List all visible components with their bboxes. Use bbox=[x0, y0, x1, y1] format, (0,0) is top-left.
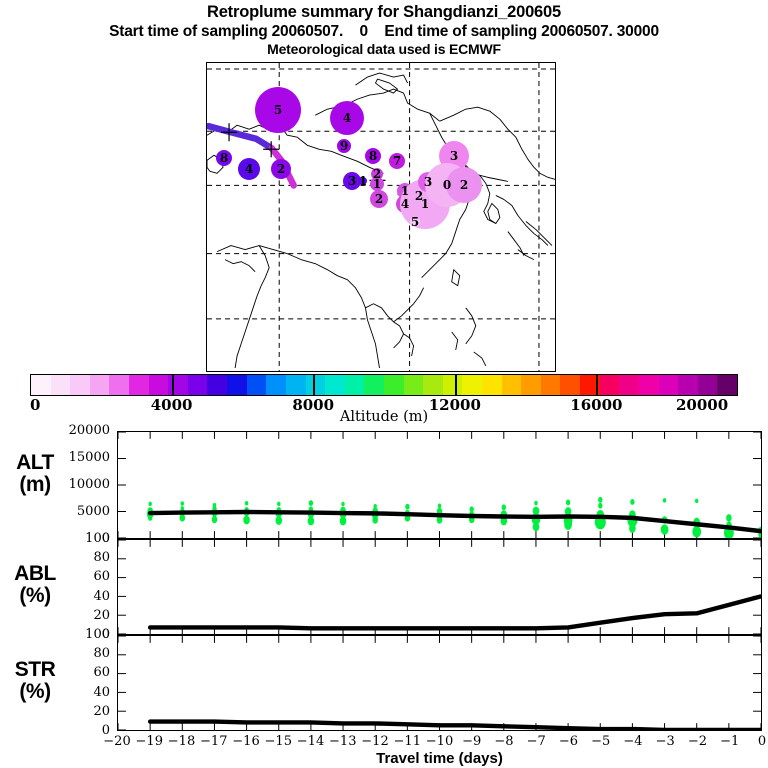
colorbar-separator bbox=[172, 375, 174, 395]
y-tick-label: 40 bbox=[93, 590, 110, 603]
colorbar-segment bbox=[678, 375, 698, 395]
y-tick-label: 80 bbox=[93, 647, 110, 660]
plume-dot bbox=[337, 139, 351, 153]
colorbar-segment bbox=[286, 375, 306, 395]
y-tick-label: 20000 bbox=[69, 424, 110, 437]
colorbar-segment bbox=[560, 375, 580, 395]
y-tick-label: 20 bbox=[93, 609, 110, 622]
plume-dot bbox=[389, 153, 405, 169]
alt-panel[interactable] bbox=[117, 431, 762, 539]
colorbar-segment bbox=[70, 375, 90, 395]
colorbar-segment bbox=[639, 375, 659, 395]
x-tick-label: 0 bbox=[758, 734, 766, 749]
colorbar-segment bbox=[404, 375, 424, 395]
plume-dot bbox=[410, 217, 420, 227]
plume-dot bbox=[446, 167, 482, 203]
y-tick-label: 15000 bbox=[69, 451, 110, 464]
alt-label-line2: (m) bbox=[19, 473, 50, 496]
x-tick-label: −16 bbox=[232, 734, 259, 749]
abl-plot bbox=[118, 540, 761, 634]
plume-dot bbox=[216, 150, 232, 166]
x-tick-label: −15 bbox=[265, 734, 292, 749]
str-panel[interactable] bbox=[117, 635, 762, 731]
plume-dot bbox=[238, 158, 260, 180]
colorbar-segment bbox=[443, 375, 463, 395]
colorbar-separator bbox=[596, 375, 598, 395]
title-block: Retroplume summary for Shangdianzi_20060… bbox=[0, 0, 768, 58]
plume-dot bbox=[271, 159, 291, 179]
colorbar-segment bbox=[90, 375, 110, 395]
alt-axis-label: ALT (m) bbox=[4, 452, 66, 496]
y-tick-label: 60 bbox=[93, 570, 110, 583]
y-tick-label: 5000 bbox=[77, 505, 110, 518]
x-tick-label: −7 bbox=[527, 734, 546, 749]
x-tick-label: −8 bbox=[494, 734, 513, 749]
x-tick-label: −2 bbox=[688, 734, 707, 749]
colorbar-segment bbox=[266, 375, 286, 395]
x-tick-label: −18 bbox=[168, 734, 195, 749]
colorbar-segment bbox=[345, 375, 365, 395]
x-tick-label: −11 bbox=[394, 734, 421, 749]
x-tick-label: −1 bbox=[720, 734, 739, 749]
colorbar-separator bbox=[313, 375, 315, 395]
colorbar-title: Altitude (m) bbox=[0, 409, 768, 425]
altitude-colorbar[interactable] bbox=[30, 374, 738, 396]
abl-label-line1: ABL bbox=[14, 562, 56, 585]
colorbar-segment bbox=[384, 375, 404, 395]
colorbar-segment bbox=[306, 375, 326, 395]
alt-plot bbox=[118, 432, 761, 538]
colorbar-segment bbox=[482, 375, 502, 395]
alt-label-line1: ALT bbox=[16, 451, 54, 474]
colorbar-segment bbox=[207, 375, 227, 395]
colorbar-segment bbox=[247, 375, 267, 395]
xaxis-title: Travel time (days) bbox=[117, 750, 762, 767]
plume-dot bbox=[370, 177, 384, 191]
plume-dot bbox=[255, 87, 301, 133]
y-tick-label: 60 bbox=[93, 666, 110, 679]
colorbar-separator bbox=[455, 375, 457, 395]
retroplume-map[interactable]: 8544298733121214213025 bbox=[206, 62, 556, 372]
colorbar-segment bbox=[619, 375, 639, 395]
x-tick-label: −5 bbox=[591, 734, 610, 749]
x-tick-label: −4 bbox=[623, 734, 642, 749]
x-tick-label: −10 bbox=[426, 734, 453, 749]
str-axis-label: STR (%) bbox=[4, 659, 66, 703]
y-tick-label: 80 bbox=[93, 551, 110, 564]
str-label-line2: (%) bbox=[19, 680, 50, 703]
sampling-time-line: Start time of sampling 20060507. 0 End t… bbox=[0, 22, 768, 41]
colorbar-segment bbox=[51, 375, 71, 395]
x-tick-label: −20 bbox=[103, 734, 130, 749]
abl-panel[interactable] bbox=[117, 539, 762, 635]
plume-dot bbox=[365, 148, 381, 164]
y-tick-label: 100 bbox=[85, 628, 110, 641]
colorbar-segment bbox=[521, 375, 541, 395]
page-title: Retroplume summary for Shangdianzi_20060… bbox=[0, 0, 768, 22]
colorbar-segment bbox=[364, 375, 384, 395]
colorbar-segment bbox=[462, 375, 482, 395]
colorbar-segment bbox=[149, 375, 169, 395]
plume-dot bbox=[359, 177, 367, 185]
str-label-line1: STR bbox=[15, 658, 56, 681]
x-tick-label: −3 bbox=[656, 734, 675, 749]
colorbar-segment bbox=[109, 375, 129, 395]
x-tick-label: −9 bbox=[462, 734, 481, 749]
plume-dot bbox=[370, 190, 388, 208]
x-tick-label: −12 bbox=[361, 734, 388, 749]
x-tick-label: −19 bbox=[136, 734, 163, 749]
colorbar-segment bbox=[423, 375, 443, 395]
y-tick-label: 100 bbox=[85, 532, 110, 545]
colorbar-segment bbox=[227, 375, 247, 395]
met-data-line: Meteorological data used is ECMWF bbox=[0, 41, 768, 58]
colorbar-segment bbox=[502, 375, 522, 395]
y-tick-label: 20 bbox=[93, 705, 110, 718]
colorbar-segment bbox=[717, 375, 737, 395]
x-tick-label: −13 bbox=[329, 734, 356, 749]
colorbar-segment bbox=[129, 375, 149, 395]
str-plot bbox=[118, 636, 761, 730]
x-tick-label: −17 bbox=[200, 734, 227, 749]
abl-axis-label: ABL (%) bbox=[4, 563, 66, 607]
x-tick-label: −6 bbox=[559, 734, 578, 749]
colorbar-segment bbox=[31, 375, 51, 395]
plume-dot bbox=[330, 101, 364, 135]
y-tick-label: 10000 bbox=[69, 478, 110, 491]
colorbar-segment bbox=[325, 375, 345, 395]
colorbar-segment bbox=[188, 375, 208, 395]
colorbar-segment bbox=[698, 375, 718, 395]
abl-label-line2: (%) bbox=[19, 584, 50, 607]
y-tick-label: 40 bbox=[93, 686, 110, 699]
colorbar-segment bbox=[659, 375, 679, 395]
colorbar-segment bbox=[600, 375, 620, 395]
colorbar-segment bbox=[541, 375, 561, 395]
x-tick-label: −14 bbox=[297, 734, 324, 749]
